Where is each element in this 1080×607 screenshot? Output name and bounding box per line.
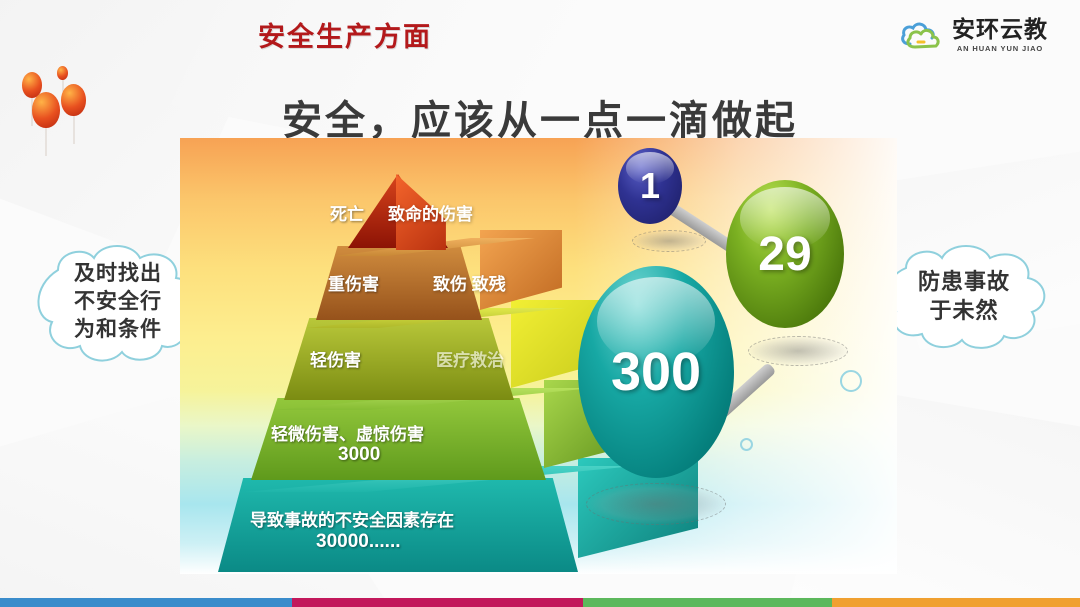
pyramid-tier-2-label: 重伤害 bbox=[328, 270, 379, 295]
page-title: 安全生产方面 bbox=[258, 15, 432, 54]
pyramid-tier-2-side-label: 致伤 致残 bbox=[433, 270, 506, 295]
sphere-300: 300 bbox=[578, 266, 734, 478]
logo-wordmark: 安环云教 bbox=[952, 18, 1048, 41]
bar-green bbox=[583, 598, 831, 607]
left-cloud-line-3: 为和条件 bbox=[74, 316, 162, 344]
right-cloud-line-2: 于未然 bbox=[929, 296, 998, 325]
left-cloud-line-1: 及时找出 bbox=[74, 260, 162, 288]
sphere-29-value: 29 bbox=[758, 227, 811, 282]
pyramid-tier-4-count: 3000 bbox=[338, 444, 380, 466]
pyramid-tier-1-label: 死亡 bbox=[330, 200, 364, 225]
logo-pinyin: AN HUAN YUN JIAO bbox=[957, 45, 1043, 53]
bar-blue bbox=[0, 598, 292, 607]
sphere-1: 1 bbox=[618, 148, 682, 224]
pyramid-tier-3-label: 轻伤害 bbox=[310, 346, 361, 371]
sphere-29-shadow bbox=[748, 336, 848, 366]
sphere-1-shadow bbox=[632, 230, 706, 252]
pyramid-tier-1-side-label: 致命的伤害 bbox=[388, 200, 473, 225]
brand-logo: 安环云教 AN HUAN YUN JIAO bbox=[898, 18, 1048, 53]
slide-canvas: 安全生产方面 安环云教 AN HUAN YUN JIAO 安全，应该从一点一滴做… bbox=[0, 0, 1080, 607]
sphere-300-shadow bbox=[586, 483, 726, 525]
safety-pyramid-figure: 死亡 重伤害 轻伤害 轻微伤害、虚惊伤害 3000 导致事故的不安全因素存在 3… bbox=[180, 138, 897, 574]
pyramid-tier-5-count: 30000...... bbox=[316, 531, 401, 553]
sphere-300-value: 300 bbox=[611, 341, 701, 403]
bar-orange bbox=[832, 598, 1080, 607]
pyramid-tier-4-label: 轻微伤害、虚惊伤害 bbox=[271, 420, 424, 445]
decorative-circle bbox=[740, 438, 753, 451]
decorative-circle bbox=[840, 370, 862, 392]
pyramid-tier-3-side-label: 医疗救治 bbox=[436, 346, 504, 371]
pyramid-tier-5-label: 导致事故的不安全因素存在 bbox=[250, 506, 454, 531]
cloud-logo-icon bbox=[898, 18, 944, 52]
left-cloud-line-2: 不安全行 bbox=[74, 288, 162, 316]
sphere-1-value: 1 bbox=[640, 165, 660, 207]
right-cloud-line-1: 防患事故 bbox=[918, 267, 1010, 296]
sphere-29: 29 bbox=[726, 180, 844, 328]
bottom-color-bar bbox=[0, 598, 1080, 607]
bar-crimson bbox=[292, 598, 584, 607]
